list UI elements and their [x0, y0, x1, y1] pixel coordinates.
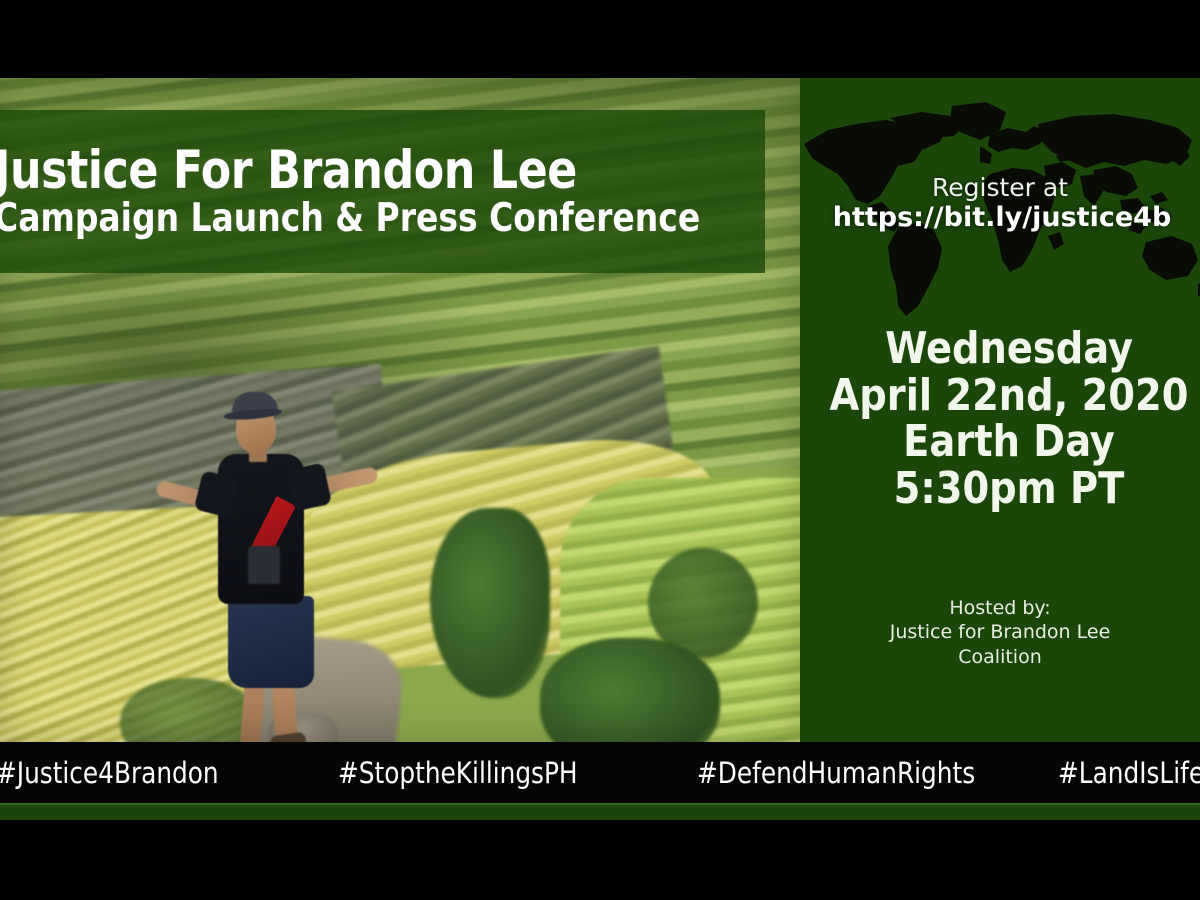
- event-date: April 22nd, 2020: [806, 373, 1200, 420]
- letterbox-top: [0, 0, 1200, 78]
- green-accent-strip: [0, 803, 1200, 820]
- person-figure: [150, 378, 450, 742]
- hashtag-stopthekillingsph: #StoptheKillingsPH: [338, 756, 578, 790]
- page-subtitle: Campaign Launch & Press Conference: [0, 199, 719, 240]
- person-right-sleeve: [286, 463, 332, 512]
- bush-cluster-c: [648, 548, 758, 658]
- poster-content-band: Justice For Brandon Lee Campaign Launch …: [0, 78, 1200, 742]
- letterbox-bottom: [0, 820, 1200, 900]
- event-occasion: Earth Day: [806, 419, 1200, 466]
- event-time: 5:30pm PT: [806, 466, 1200, 513]
- register-label: Register at: [800, 174, 1200, 202]
- hosted-by-block: Hosted by: Justice for Brandon Lee Coali…: [800, 596, 1200, 669]
- hashtag-landislife: #LandIsLife: [1058, 756, 1200, 790]
- tshirt-chest-detail: [248, 546, 280, 584]
- person-shorts: [228, 596, 314, 688]
- info-panel: Register at https://bit.ly/justice4b Wed…: [800, 78, 1200, 742]
- register-block: Register at https://bit.ly/justice4b: [800, 174, 1200, 233]
- hashtag-justice4brandon: #Justice4Brandon: [0, 756, 219, 790]
- event-date-block: Wednesday April 22nd, 2020 Earth Day 5:3…: [800, 326, 1200, 513]
- hosted-org-line1: Justice for Brandon Lee: [800, 620, 1200, 644]
- hashtag-defendhumanrights: #DefendHumanRights: [697, 756, 975, 790]
- register-url[interactable]: https://bit.ly/justice4b: [804, 202, 1200, 233]
- hashtag-bar: #Justice4Brandon #StoptheKillingsPH #Def…: [0, 742, 1200, 803]
- hosted-by-label: Hosted by:: [800, 596, 1200, 620]
- page-title: Justice For Brandon Lee: [0, 144, 711, 197]
- title-banner: Justice For Brandon Lee Campaign Launch …: [0, 110, 765, 273]
- hosted-org-line2: Coalition: [800, 645, 1200, 669]
- event-weekday: Wednesday: [806, 326, 1200, 373]
- event-poster: Justice For Brandon Lee Campaign Launch …: [0, 0, 1200, 900]
